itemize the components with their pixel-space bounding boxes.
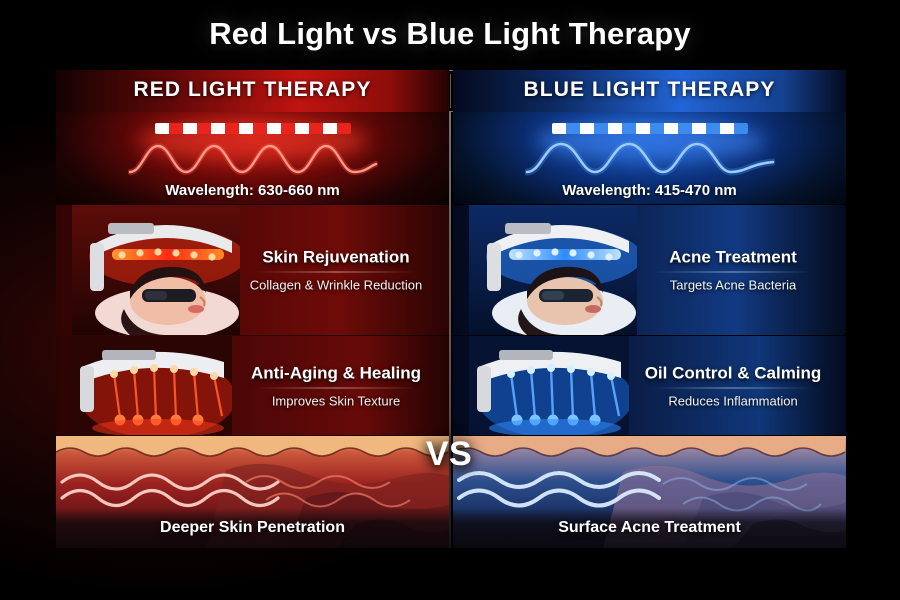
blue-penetration-label: Surface Acne Treatment xyxy=(453,519,846,537)
red-penetration-label: Deeper Skin Penetration xyxy=(56,519,449,537)
blue-wavelength-row: Wavelength: 415-470 nm xyxy=(453,112,846,204)
blue-benefit-row-2: Oil Control & Calming Reduces Inflammati… xyxy=(453,336,846,435)
blue-penetration-row: Surface Acne Treatment xyxy=(453,436,846,548)
red-waveform-icon xyxy=(128,132,378,180)
red-benefit-row-1: Skin Rejuvenation Collagen & Wrinkle Red… xyxy=(56,205,449,335)
vs-badge: VS xyxy=(426,435,472,474)
red-penetration-row: Deeper Skin Penetration xyxy=(56,436,449,548)
infographic-background: Red Light vs Blue Light Therapy RED LIGH… xyxy=(0,0,900,600)
column-blue: Wavelength: 415-470 nm xyxy=(453,112,846,548)
red-led-device-photo xyxy=(72,336,232,435)
blue-benefit-1-subtitle: Targets Acne Bacteria xyxy=(628,278,838,293)
blue-benefit-1-title: Acne Treatment xyxy=(628,248,838,268)
blue-benefit-1-text: Acne Treatment Targets Acne Bacteria xyxy=(628,248,838,293)
header-blue-label: BLUE LIGHT THERAPY xyxy=(453,78,846,102)
header-red-label: RED LIGHT THERAPY xyxy=(56,78,449,102)
column-headers: RED LIGHT THERAPY BLUE LIGHT THERAPY xyxy=(56,70,846,112)
red-benefit-1-text: Skin Rejuvenation Collagen & Wrinkle Red… xyxy=(231,248,441,293)
page-title: Red Light vs Blue Light Therapy xyxy=(0,16,900,52)
blue-benefit-row-1: Acne Treatment Targets Acne Bacteria xyxy=(453,205,846,335)
red-benefit-2-text: Anti-Aging & Healing Improves Skin Textu… xyxy=(231,363,441,408)
blue-benefit-1-rule xyxy=(653,272,813,273)
blue-led-device-photo xyxy=(469,336,629,435)
blue-benefit-2-text: Oil Control & Calming Reduces Inflammati… xyxy=(628,363,838,408)
blue-benefit-2-subtitle: Reduces Inflammation xyxy=(628,393,838,408)
blue-therapy-photo xyxy=(469,205,637,335)
red-benefit-1-title: Skin Rejuvenation xyxy=(231,248,441,268)
red-benefit-1-subtitle: Collagen & Wrinkle Reduction xyxy=(231,278,441,293)
column-red: Wavelength: 630-660 nm xyxy=(56,112,449,548)
red-wavelength-row: Wavelength: 630-660 nm xyxy=(56,112,449,204)
red-benefit-1-rule xyxy=(256,272,416,273)
center-divider xyxy=(449,112,451,548)
blue-benefit-2-rule xyxy=(653,387,813,388)
header-red-light-therapy: RED LIGHT THERAPY xyxy=(56,70,449,112)
blue-wavelength-label: Wavelength: 415-470 nm xyxy=(453,182,846,199)
header-blue-light-therapy: BLUE LIGHT THERAPY xyxy=(453,70,846,112)
red-wavelength-label: Wavelength: 630-660 nm xyxy=(56,182,449,199)
red-therapy-photo xyxy=(72,205,240,335)
header-center-divider xyxy=(450,74,451,108)
blue-benefit-2-title: Oil Control & Calming xyxy=(628,363,838,383)
comparison-panel: RED LIGHT THERAPY BLUE LIGHT THERAPY Wav… xyxy=(56,70,846,548)
red-benefit-row-2: Anti-Aging & Healing Improves Skin Textu… xyxy=(56,336,449,435)
red-benefit-2-rule xyxy=(256,387,416,388)
red-benefit-2-title: Anti-Aging & Healing xyxy=(231,363,441,383)
blue-waveform-icon xyxy=(525,132,775,180)
red-benefit-2-subtitle: Improves Skin Texture xyxy=(231,393,441,408)
